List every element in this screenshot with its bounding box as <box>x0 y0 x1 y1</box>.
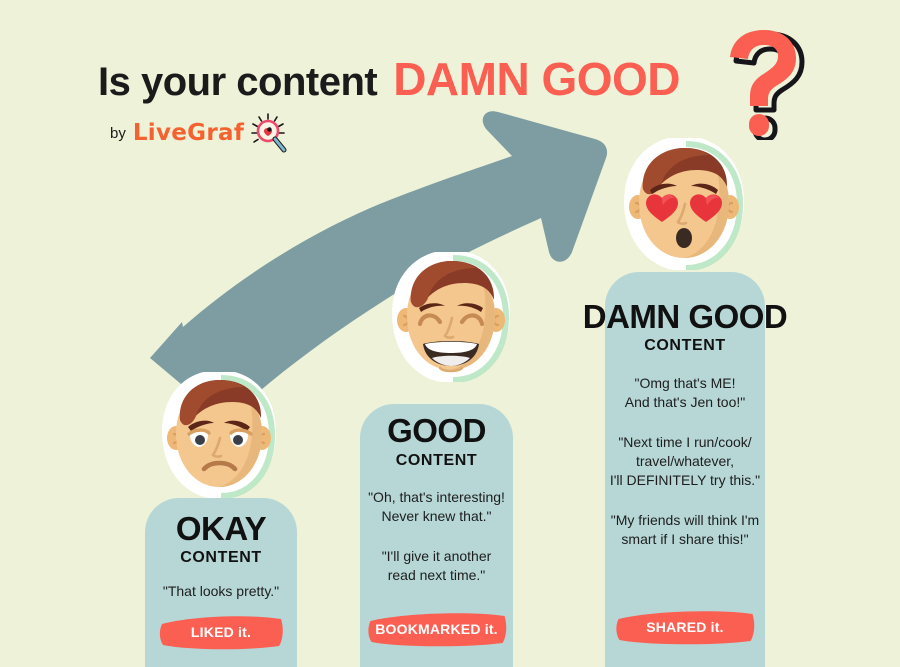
card-subtitle: CONTENT <box>644 338 726 354</box>
card-subtitle: CONTENT <box>396 453 478 469</box>
bored-face-icon <box>158 372 280 498</box>
card-quotes: "Omg that's ME!And that's Jen too!""Next… <box>610 374 760 549</box>
question-mark-icon <box>726 22 808 140</box>
quote-line: "My friends will think I'msmart if I sha… <box>610 511 760 550</box>
title-accent-text: DAMN GOOD <box>393 52 680 106</box>
badge-liked[interactable]: LIKED it. <box>157 613 285 651</box>
card-title: DAMN GOOD <box>583 300 788 333</box>
quote-line: "I'll give it anotherread next time." <box>368 547 505 586</box>
card-okay: OKAY CONTENT "That looks pretty." LIKED … <box>145 498 297 667</box>
quote-line: "That looks pretty." <box>163 582 279 601</box>
quote-line: "Next time I run/cook/travel/whatever,I'… <box>610 433 760 491</box>
byline: by LiveGraf <box>110 112 289 154</box>
badge-label: LIKED it. <box>191 624 251 640</box>
card-title: GOOD <box>387 414 486 447</box>
badge-shared[interactable]: SHARED it. <box>614 608 757 646</box>
brand-name: LiveGraf <box>133 120 244 146</box>
smiling-face-icon <box>388 252 514 382</box>
card-subtitle: CONTENT <box>180 550 262 566</box>
card-title: OKAY <box>176 512 266 545</box>
page-title: Is your content DAMN GOOD <box>98 52 680 106</box>
quote-line: "Omg that's ME!And that's Jen too!" <box>610 374 760 413</box>
badge-label: SHARED it. <box>646 619 723 635</box>
badge-label: BOOKMARKED it. <box>375 621 498 637</box>
card-damn-good: DAMN GOOD CONTENT "Omg that's ME!And tha… <box>605 272 765 667</box>
infographic-canvas: Is your content DAMN GOOD by LiveGraf <box>0 0 900 667</box>
magnifying-glass-icon <box>247 112 289 154</box>
title-plain-text: Is your content <box>98 60 377 105</box>
card-quotes: "Oh, that's interesting!Never knew that.… <box>368 488 505 585</box>
card-good: GOOD CONTENT "Oh, that's interesting!Nev… <box>360 404 513 667</box>
byline-prefix: by <box>110 125 126 142</box>
badge-bookmarked[interactable]: BOOKMARKED it. <box>365 610 508 648</box>
quote-line: "Oh, that's interesting!Never knew that.… <box>368 488 505 527</box>
header: Is your content DAMN GOOD by LiveGraf <box>0 0 900 160</box>
card-quotes: "That looks pretty." <box>163 582 279 601</box>
